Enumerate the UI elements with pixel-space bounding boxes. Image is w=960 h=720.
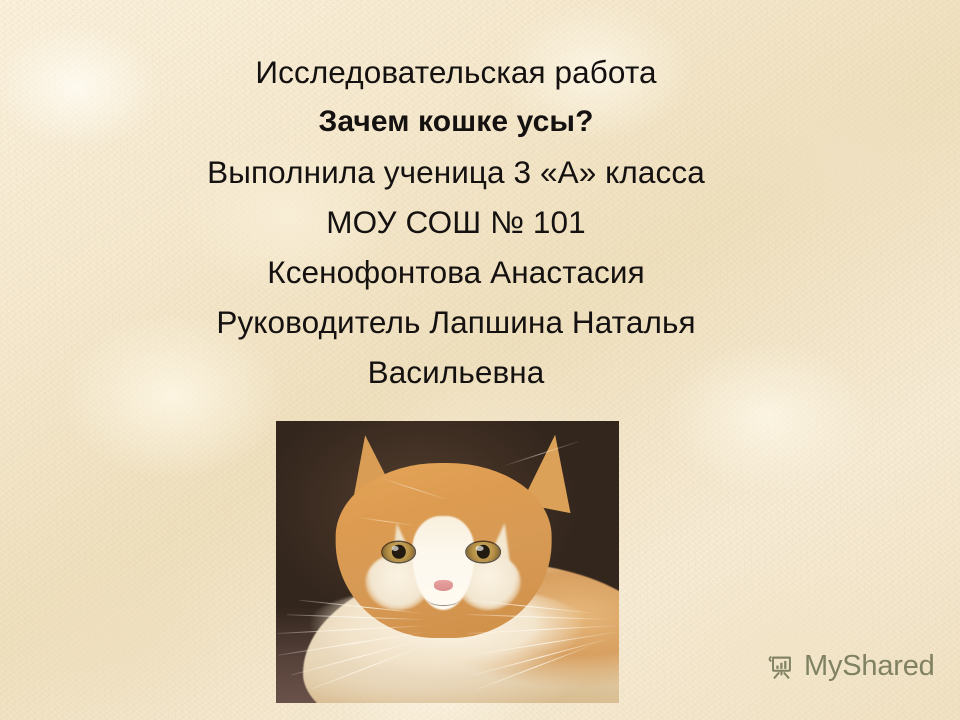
slide-line-author-role: Выполнила ученица 3 «А» класса (168, 147, 744, 197)
presentation-slide: Исследовательская работа Зачем кошке усы… (0, 0, 960, 720)
cat-eye-right (467, 542, 499, 562)
cat-eye-left (383, 542, 415, 562)
slide-line-supervisor: Руководитель Лапшина Наталья Васильевна (168, 297, 744, 397)
slide-line-author-name: Ксенофонтова Анастасия (168, 247, 744, 297)
cat-photo (276, 421, 619, 703)
slide-line-title: Исследовательская работа (168, 47, 744, 97)
slide-line-subject: Зачем кошке усы? (168, 97, 744, 147)
cat-head (335, 463, 551, 638)
watermark-label: MyShared (804, 650, 935, 683)
watermark: MyShared (766, 650, 935, 683)
slide-line-school: МОУ СОШ № 101 (168, 197, 744, 247)
slide-text-block: Исследовательская работа Зачем кошке усы… (168, 47, 744, 397)
presentation-chart-icon (766, 652, 796, 682)
cat-eye-glint-right (476, 546, 483, 551)
cat-eye-glint-left (392, 546, 399, 551)
